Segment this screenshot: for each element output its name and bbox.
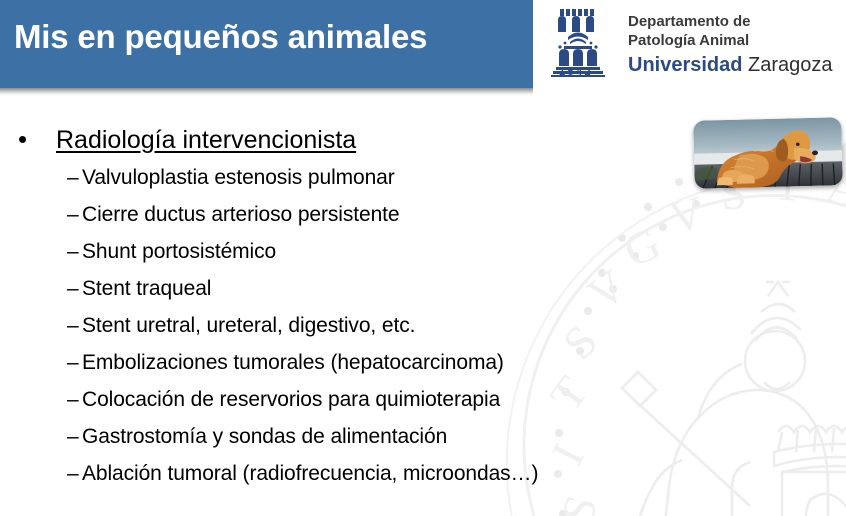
slide-canvas: S I T S V G V S T A N (0, 0, 846, 516)
list-item-label: Gastrostomía y sondas de alimentación (82, 425, 447, 449)
list-item-label: Stent uretral, ureteral, digestivo, etc. (82, 314, 415, 338)
logo-wordmark: Departamento de Patología Animal Univers… (628, 4, 833, 77)
list-item: – Stent traqueal (67, 277, 538, 314)
logo-founded-year: 1542 (538, 66, 614, 78)
list-item: – Stent uretral, ureteral, digestivo, et… (67, 314, 538, 351)
list-item-label: Embolizaciones tumorales (hepatocarcinom… (82, 351, 504, 375)
slide-title: Mis en pequeños animales (14, 16, 519, 57)
list-item: – Shunt portosistémico (67, 240, 538, 277)
university-building-icon: 1542 (538, 4, 618, 84)
university-logo: 1542 Departamento de Patología Animal Un… (538, 4, 846, 88)
dash-icon: – (67, 462, 82, 486)
dash-icon: – (67, 314, 82, 338)
list-item: – Ablación tumoral (radiofrecuencia, mic… (67, 462, 538, 499)
university-name-bold: Universidad (628, 54, 742, 76)
title-banner: Mis en pequeños animales (0, 0, 533, 88)
dash-icon: – (67, 351, 82, 375)
list-item-label: Ablación tumoral (radiofrecuencia, micro… (82, 462, 538, 486)
sub-bullet-list: – Valvuloplastia estenosis pulmonar – Ci… (67, 166, 538, 499)
banner-shadow (0, 88, 533, 95)
university-wordmark: Universidad Zaragoza (628, 54, 833, 77)
dash-icon: – (67, 388, 82, 412)
list-item-label: Shunt portosistémico (82, 240, 276, 264)
list-item: – Valvuloplastia estenosis pulmonar (67, 166, 538, 203)
list-item: – Colocación de reservorios para quimiot… (67, 388, 538, 425)
department-line-1: Departamento de (628, 13, 833, 32)
dash-icon: – (67, 277, 82, 301)
dash-icon: – (67, 166, 82, 190)
dash-icon: – (67, 203, 82, 227)
main-bullet-label: Radiología intervencionista (56, 126, 356, 155)
list-item: – Embolizaciones tumorales (hepatocarcin… (67, 351, 538, 388)
golden-retriever-photo (693, 117, 843, 189)
list-item: – Cierre ductus arterioso persistente (67, 203, 538, 240)
university-name-light: Zaragoza (742, 54, 832, 76)
department-line-2: Patología Animal (628, 32, 833, 51)
bullet-point-icon: • (18, 126, 56, 152)
list-item-label: Valvuloplastia estenosis pulmonar (82, 166, 395, 190)
dash-icon: – (67, 425, 82, 449)
list-item-label: Stent traqueal (82, 277, 211, 301)
list-item-label: Cierre ductus arterioso persistente (82, 203, 399, 227)
list-item: – Gastrostomía y sondas de alimentación (67, 425, 538, 462)
main-bullet-item: • Radiología intervencionista (18, 126, 356, 155)
list-item-label: Colocación de reservorios para quimioter… (82, 388, 500, 412)
dash-icon: – (67, 240, 82, 264)
